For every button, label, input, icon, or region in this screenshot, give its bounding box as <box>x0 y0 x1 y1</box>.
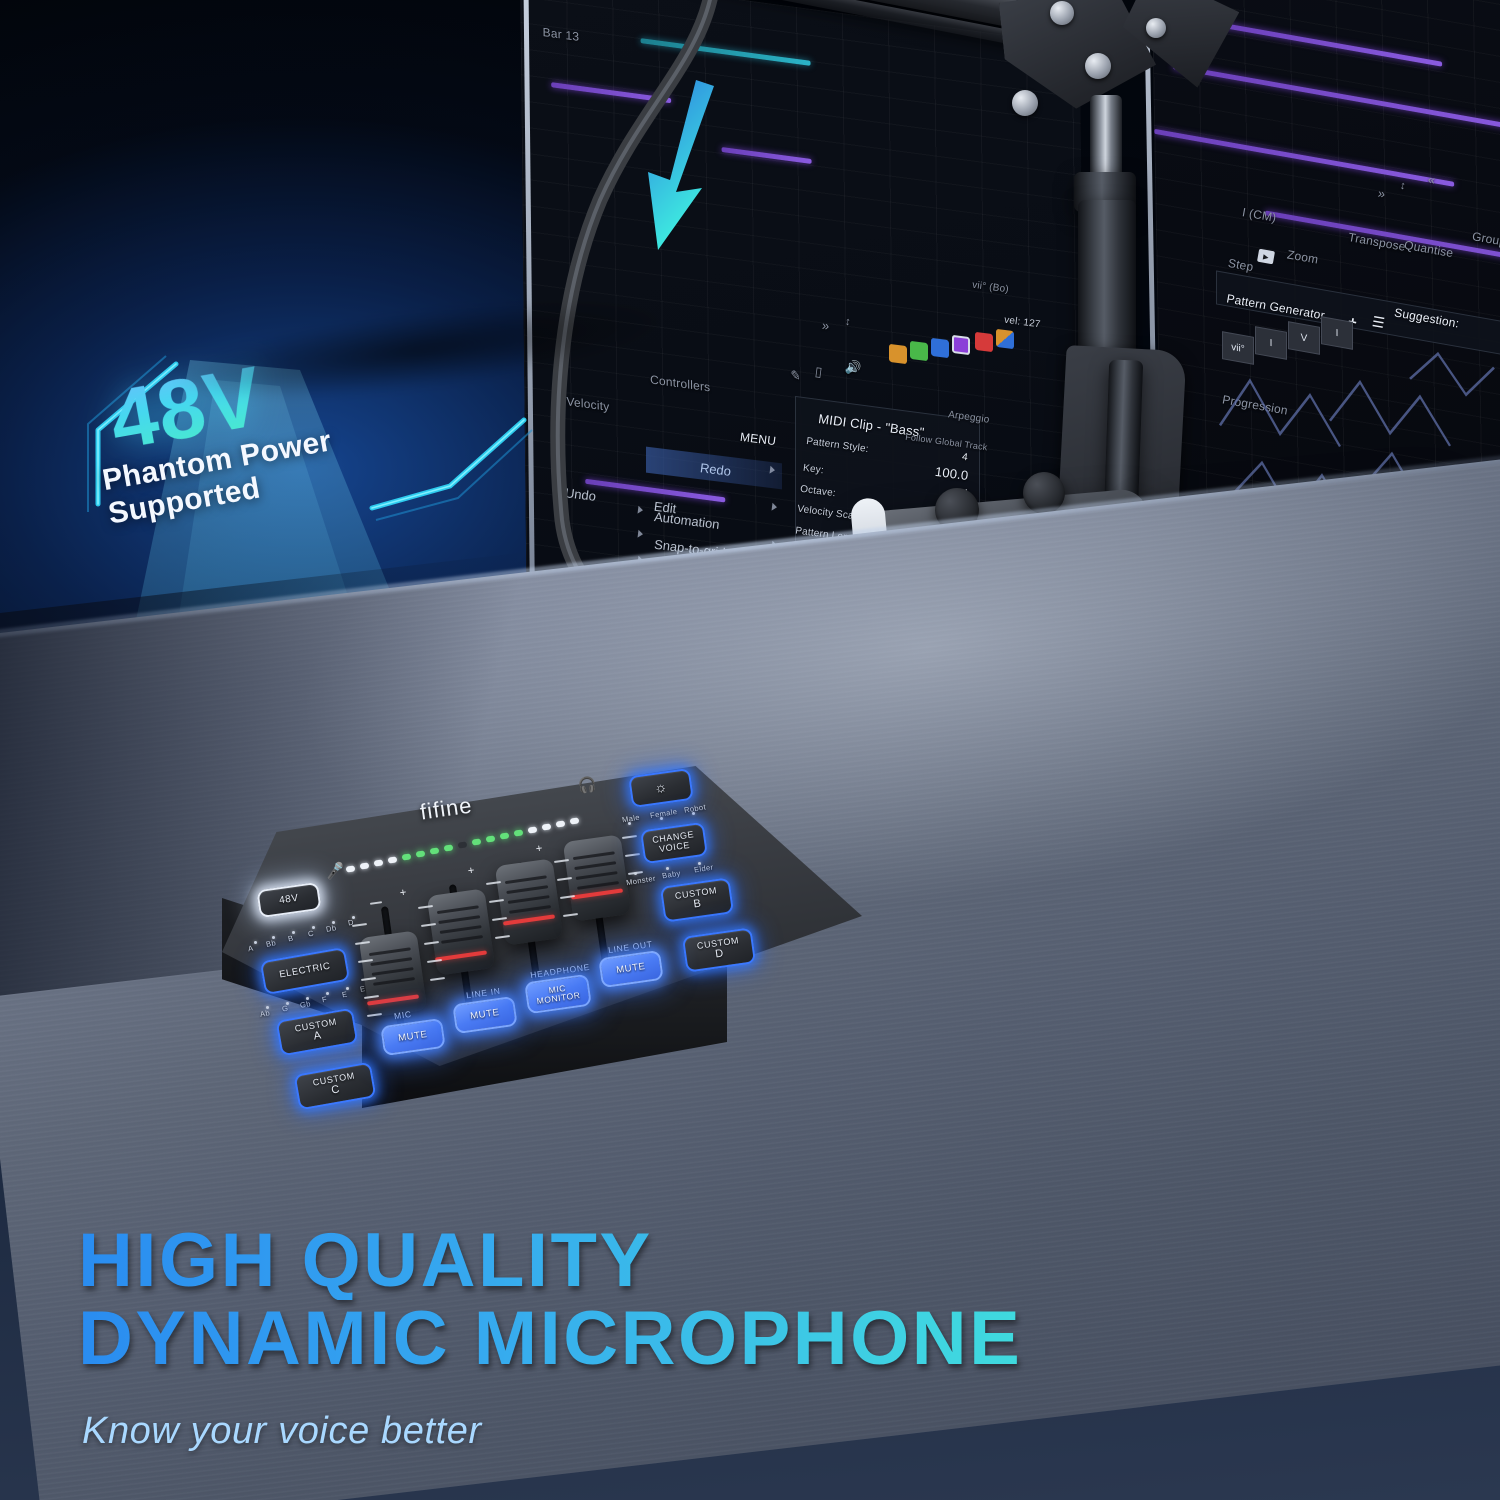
mute-icon[interactable]: 🔊 <box>844 359 862 377</box>
fader-plus-label: + <box>399 888 407 900</box>
custom-a-letter: A <box>313 1030 323 1043</box>
microphone-icon: 🎤 <box>325 861 346 881</box>
headline-line-1: HIGH QUALITY <box>78 1222 1418 1300</box>
voice-led-male <box>628 822 631 825</box>
custom-c-letter: C <box>331 1084 341 1097</box>
change-voice-line2: VOICE <box>659 841 691 855</box>
hamburger-icon[interactable]: ☰ <box>1371 313 1387 332</box>
callout-arrow-top <box>610 80 740 280</box>
updown-arrows-icon[interactable]: ↕ <box>844 316 851 329</box>
fader-cap-3[interactable] <box>495 858 564 945</box>
key-label-Bb: Bb <box>265 938 276 949</box>
voice-led-robot <box>692 812 695 815</box>
color-swatch-selected[interactable] <box>952 335 970 355</box>
audio-mixer-console: fifine 🎤 🎧 48V A Bb B C Db <box>222 766 862 1146</box>
hex-bolt <box>1085 53 1111 79</box>
color-swatch[interactable] <box>996 329 1014 349</box>
fader-cap-4[interactable] <box>563 834 632 921</box>
product-marketing-image: Bar 13 Velocity Controllers MENU Redo Un… <box>0 0 1500 1500</box>
tagline: Know your voice better <box>82 1410 482 1453</box>
key-led-A <box>254 941 257 944</box>
key-label-Db: Db <box>325 923 337 934</box>
color-swatch[interactable] <box>910 341 928 361</box>
headphone-icon: 🎧 <box>577 775 598 795</box>
color-swatch[interactable] <box>975 332 993 352</box>
custom-button-a[interactable]: CUSTOM A <box>275 1008 358 1057</box>
hex-bolt <box>1012 90 1038 116</box>
voice-led-female <box>660 817 663 820</box>
headline-line-2: DYNAMIC MICROPHONE <box>78 1300 1418 1378</box>
hex-bolt <box>1050 1 1074 25</box>
pivot-pin <box>1146 18 1166 38</box>
chevron-right-icon <box>772 503 778 512</box>
param-value: 4 <box>961 452 968 464</box>
fader-plus-label: + <box>467 866 475 878</box>
key-label-G: G <box>281 1004 289 1014</box>
chevron-right-icon <box>770 466 776 475</box>
key-label-Ab: Ab <box>259 1008 270 1019</box>
bracket-right-icon <box>358 414 533 554</box>
key-label-Gb: Gb <box>299 999 311 1010</box>
voice-led-monster <box>634 872 637 875</box>
key-label-C: C <box>307 929 314 939</box>
color-swatch[interactable] <box>889 344 907 364</box>
color-swatch[interactable] <box>931 338 949 358</box>
fader-cap-2[interactable] <box>427 888 496 975</box>
custom-b-letter: B <box>693 898 703 911</box>
step-speaker-icon[interactable]: ► <box>1257 249 1275 265</box>
fader-plus-label: + <box>535 844 543 856</box>
headline-block: HIGH QUALITY DYNAMIC MICROPHONE <box>78 1222 1418 1379</box>
key-led-F <box>326 992 329 995</box>
custom-d-letter: D <box>715 948 725 961</box>
